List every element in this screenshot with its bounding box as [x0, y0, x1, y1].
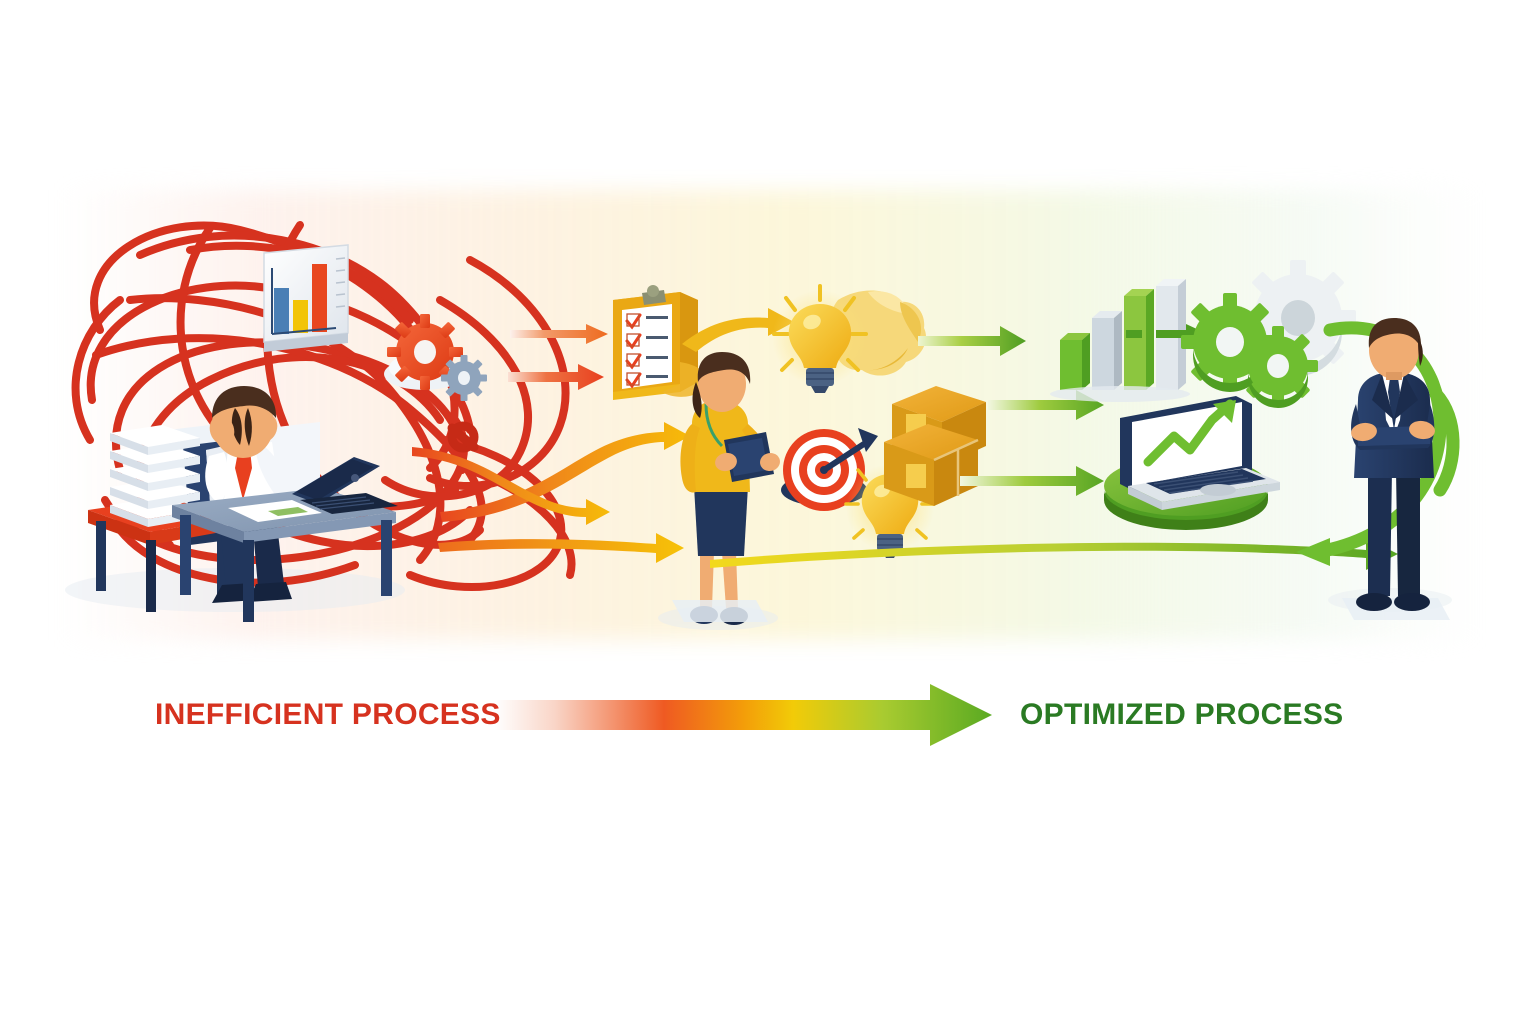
inefficient-process-label: INEFFICIENT PROCESS	[155, 698, 501, 732]
caption-arrow-layer	[0, 0, 1536, 1024]
infographic-canvas: INEFFICIENT PROCESS OPTIMIZED PROCESS IN…	[0, 0, 1536, 1024]
optimized-process-label: OPTIMIZED PROCESS	[1020, 698, 1343, 732]
process-transition-arrow	[495, 684, 992, 746]
